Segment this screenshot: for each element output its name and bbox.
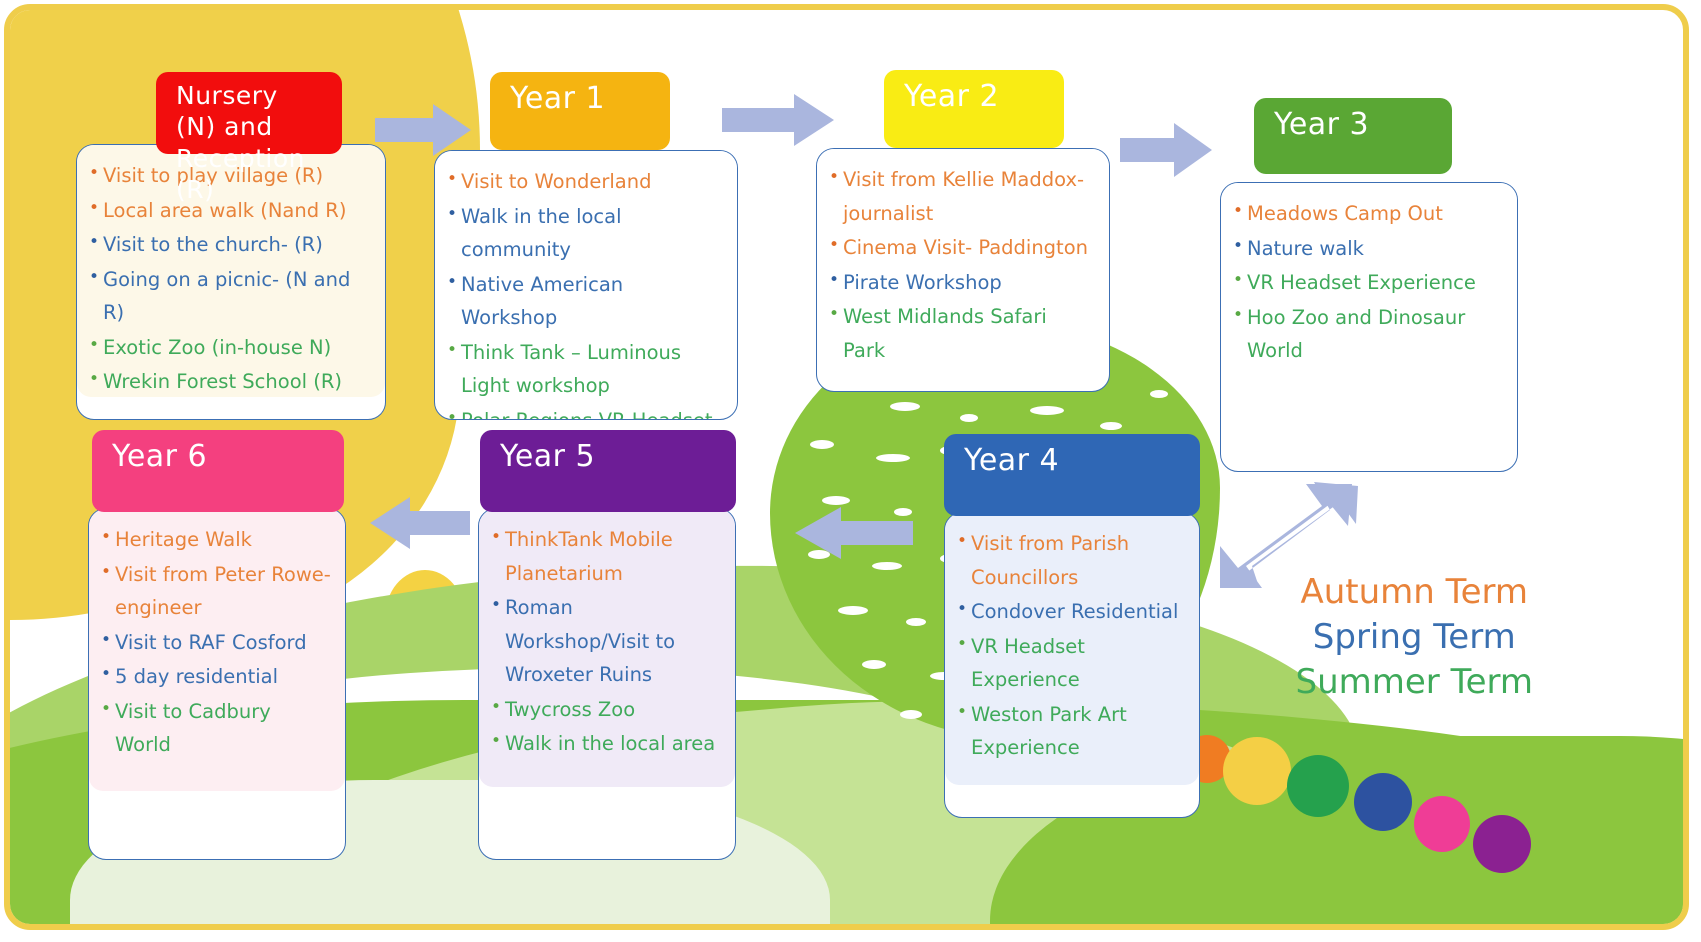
activity-item: Think Tank – Luminous Light workshop <box>461 336 723 403</box>
card-body-year6: Heritage WalkVisit from Peter Rowe- engi… <box>88 508 346 860</box>
activity-item: Polar Regions VR Headset experience <box>461 404 723 420</box>
activity-item: Visit from Parish Councillors <box>971 527 1185 594</box>
activity-item: Exotic Zoo (in-house N) <box>103 331 371 365</box>
activity-item: 5 day residential <box>115 660 331 694</box>
leaf-gap <box>810 440 834 449</box>
card-header-year5: Year 5 <box>480 430 736 512</box>
activity-list-year4: Visit from Parish CouncillorsCondover Re… <box>945 513 1199 776</box>
legend-autumn-term: Autumn Term <box>1296 570 1534 615</box>
legend-summer-term: Summer Term <box>1296 660 1534 705</box>
card-body-year5: ThinkTank Mobile PlanetariumRoman Worksh… <box>478 508 736 860</box>
card-title-year5: Year 5 <box>500 439 595 474</box>
leaf-gap <box>890 402 920 411</box>
card-header-year4: Year 4 <box>944 434 1200 516</box>
ball-green <box>1287 755 1349 817</box>
card-body-year4: Visit from Parish CouncillorsCondover Re… <box>944 512 1200 818</box>
leaf-gap <box>838 606 868 615</box>
activity-item: ThinkTank Mobile Planetarium <box>505 523 721 590</box>
activity-item: VR Headset Experience <box>971 630 1185 697</box>
leaf-gap <box>862 660 886 669</box>
card-title-year2: Year 2 <box>904 79 999 114</box>
arrow-year5-to-year6 <box>370 495 470 551</box>
leaf-gap <box>1100 422 1122 430</box>
activity-item: Pirate Workshop <box>843 266 1095 300</box>
activity-item: Native American Workshop <box>461 268 723 335</box>
poster-canvas: Nursery (N) and Reception (R) Visit to p… <box>10 10 1683 924</box>
card-header-year1: Year 1 <box>490 72 670 150</box>
activity-item: VR Headset Experience <box>1247 266 1503 300</box>
activity-item: Nature walk <box>1247 232 1503 266</box>
legend-spring-term: Spring Term <box>1296 615 1534 660</box>
activity-item: Visit to the church- (R) <box>103 228 371 262</box>
enrichment-pathway-poster: Nursery (N) and Reception (R) Visit to p… <box>0 0 1701 942</box>
activity-item: Roman Workshop/Visit to Wroxeter Ruins <box>505 591 721 692</box>
arrow-year1-to-year2 <box>722 92 834 148</box>
activity-item: Visit to Wonderland <box>461 165 723 199</box>
activity-item: Heritage Walk <box>115 523 331 557</box>
activity-item: Going on a picnic- (N and R) <box>103 263 371 330</box>
activity-item: Twycross Zoo <box>505 693 721 727</box>
arrow-year4-to-year5 <box>795 505 913 561</box>
ball-blue <box>1354 773 1412 831</box>
activity-item: Walk in the local area <box>505 727 721 761</box>
term-colour-legend: Autumn Term Spring Term Summer Term <box>1296 570 1534 705</box>
activity-list-year5: ThinkTank Mobile PlanetariumRoman Worksh… <box>479 509 735 772</box>
ball-purple <box>1473 815 1531 873</box>
leaf-gap <box>906 618 926 626</box>
activity-item: Hoo Zoo and Dinosaur World <box>1247 301 1503 368</box>
activity-list-year6: Heritage WalkVisit from Peter Rowe- engi… <box>89 509 345 773</box>
card-title-year4: Year 4 <box>964 443 1059 478</box>
activity-item: Wrekin Forest School (R) <box>103 365 371 399</box>
card-header-year3: Year 3 <box>1254 98 1452 174</box>
ball-yellow <box>1223 737 1291 805</box>
activity-item: Visit from Kellie Maddox- journalist <box>843 163 1095 230</box>
activity-item: Walk in the local community <box>461 200 723 267</box>
activity-item: Local area walk (Nand R) <box>103 194 371 228</box>
card-body-nursery: Visit to play village (R)Local area walk… <box>76 144 386 420</box>
leaf-gap <box>1150 390 1168 398</box>
card-title-year6: Year 6 <box>112 439 207 474</box>
leaf-gap <box>960 414 978 422</box>
activity-item: Meadows Camp Out <box>1247 197 1503 231</box>
arrow-year2-to-year3 <box>1120 120 1212 180</box>
card-body-year3: Meadows Camp OutNature walkVR Headset Ex… <box>1220 182 1518 472</box>
leaf-gap <box>900 710 922 719</box>
activity-list-year1: Visit to WonderlandWalk in the local com… <box>435 151 737 420</box>
activity-item: Condover Residential <box>971 595 1185 629</box>
activity-item: Visit from Peter Rowe- engineer <box>115 558 331 625</box>
activity-list-nursery: Visit to play village (R)Local area walk… <box>77 145 385 410</box>
activity-item: Cinema Visit- Paddington <box>843 231 1095 265</box>
card-body-year2: Visit from Kellie Maddox- journalistCine… <box>816 148 1110 392</box>
card-header-year6: Year 6 <box>92 430 344 512</box>
card-header-nursery: Nursery (N) and Reception (R) <box>156 72 342 154</box>
leaf-gap <box>1030 406 1064 415</box>
card-header-year2: Year 2 <box>884 70 1064 148</box>
activity-list-year3: Meadows Camp OutNature walkVR Headset Ex… <box>1221 183 1517 379</box>
ball-pink <box>1414 796 1470 852</box>
activity-list-year2: Visit from Kellie Maddox- journalistCine… <box>817 149 1109 378</box>
card-title-year3: Year 3 <box>1274 107 1369 142</box>
activity-item: Weston Park Art Experience <box>971 698 1185 765</box>
activity-item: Visit to RAF Cosford <box>115 626 331 660</box>
card-body-year1: Visit to WonderlandWalk in the local com… <box>434 150 738 420</box>
leaf-gap <box>822 496 850 505</box>
leaf-gap <box>876 454 910 462</box>
leaf-gap <box>872 562 902 570</box>
card-title-year1: Year 1 <box>510 81 605 116</box>
activity-item: West Midlands Safari Park <box>843 300 1095 367</box>
activity-item: Visit to Cadbury World <box>115 695 331 762</box>
